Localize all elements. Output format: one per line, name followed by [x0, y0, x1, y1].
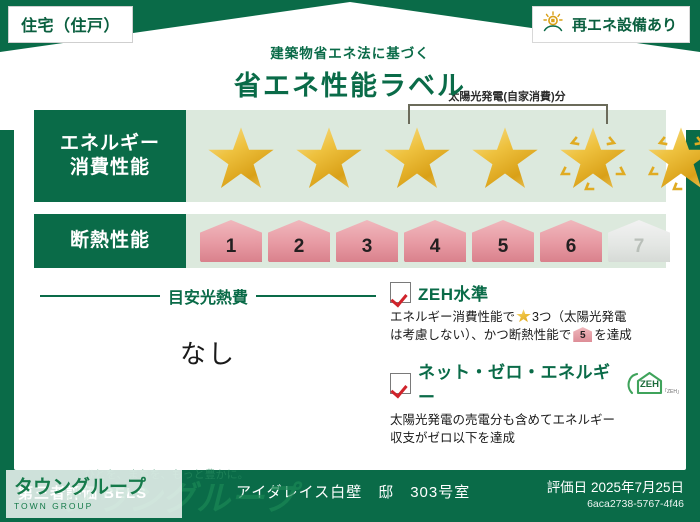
insulation-level-5-value: 5 [498, 236, 509, 262]
utility-cost-value: なし [40, 334, 376, 371]
inline-insulation-badge-icon: 5 [573, 327, 592, 342]
zeh-criteria-block: ZEH水準 エネルギー消費性能で3つ（太陽光発電 は考慮しない）、かつ断熱性能で… [390, 280, 680, 462]
insulation-level-scale: 1 2 3 4 5 6 7 [186, 220, 670, 262]
energy-performance-row: エネルギー 消費性能 太陽光発電(自家消費)分 [34, 110, 666, 202]
insulation-level-4-value: 4 [430, 236, 441, 262]
zeh-desc-stars: 3つ（太陽光発電 [532, 310, 626, 324]
zeh-standard-description: エネルギー消費性能で3つ（太陽光発電 は考慮しない）、かつ断熱性能で5を達成 [390, 308, 680, 344]
renewable-badge-label: 再エネ設備あり [572, 14, 677, 35]
insulation-level-6: 6 [540, 220, 602, 262]
zeh-desc-part3: を達成 [594, 328, 632, 342]
checkbox-checked-icon [390, 373, 411, 394]
solar-ray-icon [640, 126, 700, 192]
energy-label-line1: エネルギー [60, 132, 160, 156]
insulation-level-5: 5 [472, 220, 534, 262]
svg-text:ZEH: ZEH [640, 379, 659, 390]
inline-badge-value: 5 [573, 327, 592, 342]
third-party-evaluation-label: 第三者評価 BELS [18, 482, 147, 503]
star-rating [186, 126, 700, 192]
heading-title: 省エネ性能ラベル [0, 64, 700, 103]
rule-left [40, 295, 160, 297]
insulation-row-value: 1 2 3 4 5 6 7 [186, 214, 670, 268]
energy-row-label: エネルギー 消費性能 [34, 110, 186, 202]
star-5-solar [552, 126, 634, 192]
insulation-level-2-value: 2 [294, 236, 305, 262]
zeh-net-zero-header: ネット・ゼロ・エネルギー ZEH 「ZEH」 [390, 358, 680, 408]
zeh-net-zero-line1: 太陽光発電の売電分も含めてエネルギー [390, 413, 615, 427]
star-3 [376, 126, 458, 192]
solar-ray-icon [552, 126, 634, 192]
star-4 [464, 126, 546, 192]
energy-row-value: 太陽光発電(自家消費)分 [186, 110, 700, 202]
utility-cost-block: 目安光熱費 なし [40, 284, 376, 371]
utility-cost-heading: 目安光熱費 [40, 284, 376, 308]
insulation-level-4: 4 [404, 220, 466, 262]
renewable-equipment-badge: 再エネ設備あり [532, 6, 690, 43]
zeh-net-zero-title: ネット・ゼロ・エネルギー [418, 358, 615, 408]
insulation-level-3: 3 [336, 220, 398, 262]
insulation-level-2: 2 [268, 220, 330, 262]
energy-label-line2: 消費性能 [70, 156, 150, 180]
zeh-standard-title: ZEH水準 [418, 280, 489, 305]
zeh-item-net-zero: ネット・ゼロ・エネルギー ZEH 「ZEH」 太陽光発電の売電分も含めてエネルギ… [390, 358, 680, 447]
evaluation-date: 評価日 2025年7月25日 [547, 476, 684, 496]
property-name: アイダレイス白壁 邸 303号室 [236, 481, 470, 502]
energy-performance-label: 住宅（住戸） 再エネ設備あり 建築物省エネ法に基づく 省エネ性能ラベル [0, 0, 700, 522]
inline-star-icon [516, 309, 531, 323]
utility-cost-title: 目安光熱費 [168, 284, 248, 308]
solar-bracket [408, 104, 608, 124]
zeh-net-zero-line2: 収支がゼロ以下を達成 [390, 431, 515, 445]
housing-type-tag: 住宅（住戸） [8, 6, 133, 43]
label-footer: 第三者評価 BELS アイダレイス白壁 邸 303号室 評価日 2025年7月2… [0, 470, 700, 522]
insulation-level-7-value: 7 [634, 236, 645, 262]
insulation-row-label: 断熱性能 [34, 214, 186, 268]
zeh-item-standard: ZEH水準 エネルギー消費性能で3つ（太陽光発電 は考慮しない）、かつ断熱性能で… [390, 280, 680, 344]
zeh-desc-part1: エネルギー消費性能で [390, 310, 515, 324]
evaluation-meta: 評価日 2025年7月25日 6aca2738-5767-4f46 [547, 476, 684, 510]
sun-renewable-icon [541, 11, 565, 38]
insulation-label-text: 断熱性能 [70, 229, 150, 253]
insulation-level-6-value: 6 [566, 236, 577, 262]
zeh-house-logo-icon: ZEH 「ZEH」 [626, 370, 680, 396]
insulation-level-1: 1 [200, 220, 262, 262]
star-2 [288, 126, 370, 192]
zeh-net-zero-description: 太陽光発電の売電分も含めてエネルギー 収支がゼロ以下を達成 [390, 411, 680, 447]
star-6-solar [640, 126, 700, 192]
insulation-level-7: 7 [608, 220, 670, 262]
zeh-desc-part2: は考慮しない）、かつ断熱性能で [390, 328, 571, 342]
svg-text:「ZEH」: 「ZEH」 [662, 389, 680, 395]
insulation-level-1-value: 1 [226, 236, 237, 262]
rule-right [256, 295, 376, 297]
star-1 [200, 126, 282, 192]
evaluation-id: 6aca2738-5767-4f46 [547, 498, 684, 510]
zeh-standard-header: ZEH水準 [390, 280, 680, 305]
insulation-performance-row: 断熱性能 1 2 3 4 5 6 7 [34, 214, 666, 268]
label-card: エネルギー 消費性能 太陽光発電(自家消費)分 [14, 88, 686, 470]
checkbox-checked-icon [390, 282, 411, 303]
heading-subtitle: 建築物省エネ法に基づく [0, 42, 700, 62]
label-heading: 建築物省エネ法に基づく 省エネ性能ラベル [0, 42, 700, 103]
insulation-level-3-value: 3 [362, 236, 373, 262]
